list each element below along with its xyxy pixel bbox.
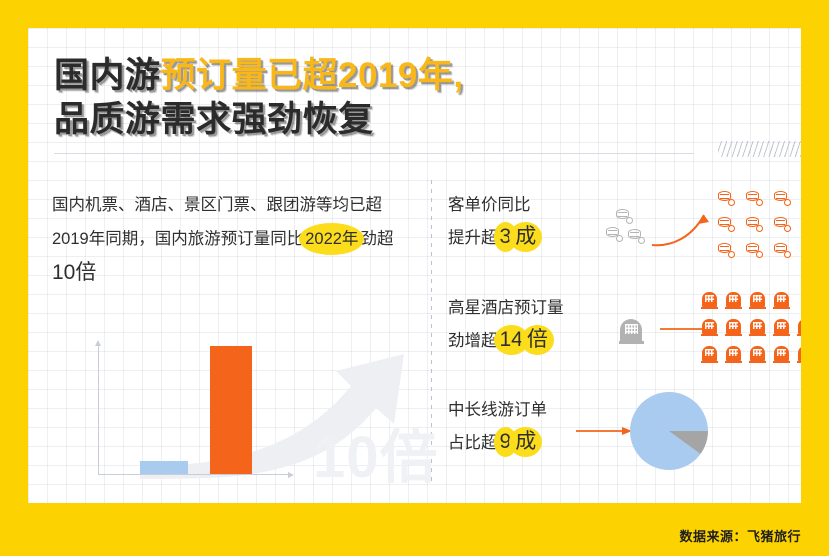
stat-prefix: 提升超 xyxy=(448,229,498,247)
title-divider xyxy=(54,153,694,154)
building-icon xyxy=(726,317,741,336)
stat-prefix: 占比超 xyxy=(448,434,498,452)
stat-row-hotel-line2: 劲增超14倍 xyxy=(448,324,598,357)
building-icon xyxy=(702,344,717,363)
pie-visual xyxy=(598,388,801,480)
lead-highlight: 2022年 xyxy=(303,222,360,256)
title-line-1-gold: 预订量已超2019年, xyxy=(161,56,464,95)
coin-icon xyxy=(746,191,763,206)
coin-icon xyxy=(746,217,763,232)
lead-text-part2: 劲超 xyxy=(360,230,393,248)
building-icon xyxy=(750,290,765,309)
hatch-decoration-icon xyxy=(718,141,801,157)
lead-paragraph: 国内机票、酒店、景区门票、跟团游等均已超2019年同期，国内旅游预订量同比202… xyxy=(52,188,412,291)
building-icon xyxy=(750,317,765,336)
stat-row-long-haul-line1: 中长线游订单 xyxy=(448,394,598,426)
coin-icon xyxy=(628,229,645,244)
building-icon xyxy=(798,317,801,336)
building-icon xyxy=(750,344,765,363)
building-icon xyxy=(726,290,741,309)
bar-chart xyxy=(98,328,348,483)
building-icon xyxy=(702,317,717,336)
coin-icon xyxy=(718,191,735,206)
coin-icon xyxy=(774,243,791,258)
building-icon xyxy=(774,317,789,336)
hotel-visual xyxy=(598,286,801,378)
bar-2023 xyxy=(210,346,252,474)
title-line-1-black: 国内游 xyxy=(54,56,161,95)
bar-2022 xyxy=(140,461,188,474)
stat-row-unit-price: 客单价同比 提升超3成 xyxy=(448,183,801,275)
coin-icon xyxy=(616,209,633,224)
building-icon xyxy=(774,290,789,309)
building-icon xyxy=(702,290,717,309)
coin-icon xyxy=(718,243,735,258)
lead-number: 10 xyxy=(52,261,75,284)
curved-arrow-icon xyxy=(650,209,714,251)
stat-unit: 成 xyxy=(513,426,538,458)
chart-x-axis xyxy=(98,474,290,475)
building-icon xyxy=(798,344,801,363)
stat-row-hotel-text: 高星酒店预订量 劲增超14倍 xyxy=(448,292,598,357)
stat-row-hotel-line1: 高星酒店预订量 xyxy=(448,292,598,324)
stat-unit: 倍 xyxy=(525,324,550,356)
chart-y-axis xyxy=(98,346,99,474)
stat-row-unit-price-line2: 提升超3成 xyxy=(448,221,598,254)
source-footer: 数据来源：飞猪旅行 xyxy=(679,526,801,545)
building-icon xyxy=(774,344,789,363)
pie-chart xyxy=(630,392,708,470)
building-icon xyxy=(726,344,741,363)
stat-row-long-haul: 中长线游订单 占比超9成 xyxy=(448,388,801,480)
stat-row-unit-price-text: 客单价同比 提升超3成 xyxy=(448,189,598,254)
building-icon xyxy=(620,316,642,344)
straight-arrow-icon xyxy=(576,424,634,438)
title-line-2: 品质游需求强劲恢复 xyxy=(54,98,754,142)
stat-prefix: 劲增超 xyxy=(448,332,498,350)
coin-icon xyxy=(606,227,623,242)
content-card: 国内游预订量已超2019年, 品质游需求强劲恢复 国内机票、酒店、景区门票、跟团… xyxy=(28,28,801,503)
stat-row-hotel: 高星酒店预订量 劲增超14倍 xyxy=(448,286,801,378)
coin-icon xyxy=(774,217,791,232)
stat-row-unit-price-line1: 客单价同比 xyxy=(448,189,598,221)
coin-visual xyxy=(598,183,801,275)
chart-x-axis-arrow-icon xyxy=(288,472,294,478)
lead-unit: 倍 xyxy=(75,261,96,284)
title-line-1: 国内游预订量已超2019年, xyxy=(54,54,754,98)
stat-unit: 成 xyxy=(513,221,538,253)
chart-y-axis-arrow-icon xyxy=(95,340,101,346)
coin-icon xyxy=(718,217,735,232)
coin-icon xyxy=(746,243,763,258)
coin-icon xyxy=(774,191,791,206)
infographic-poster: 国内游预订量已超2019年, 品质游需求强劲恢复 国内机票、酒店、景区门票、跟团… xyxy=(0,0,829,556)
page-title: 国内游预订量已超2019年, 品质游需求强劲恢复 xyxy=(54,54,754,142)
